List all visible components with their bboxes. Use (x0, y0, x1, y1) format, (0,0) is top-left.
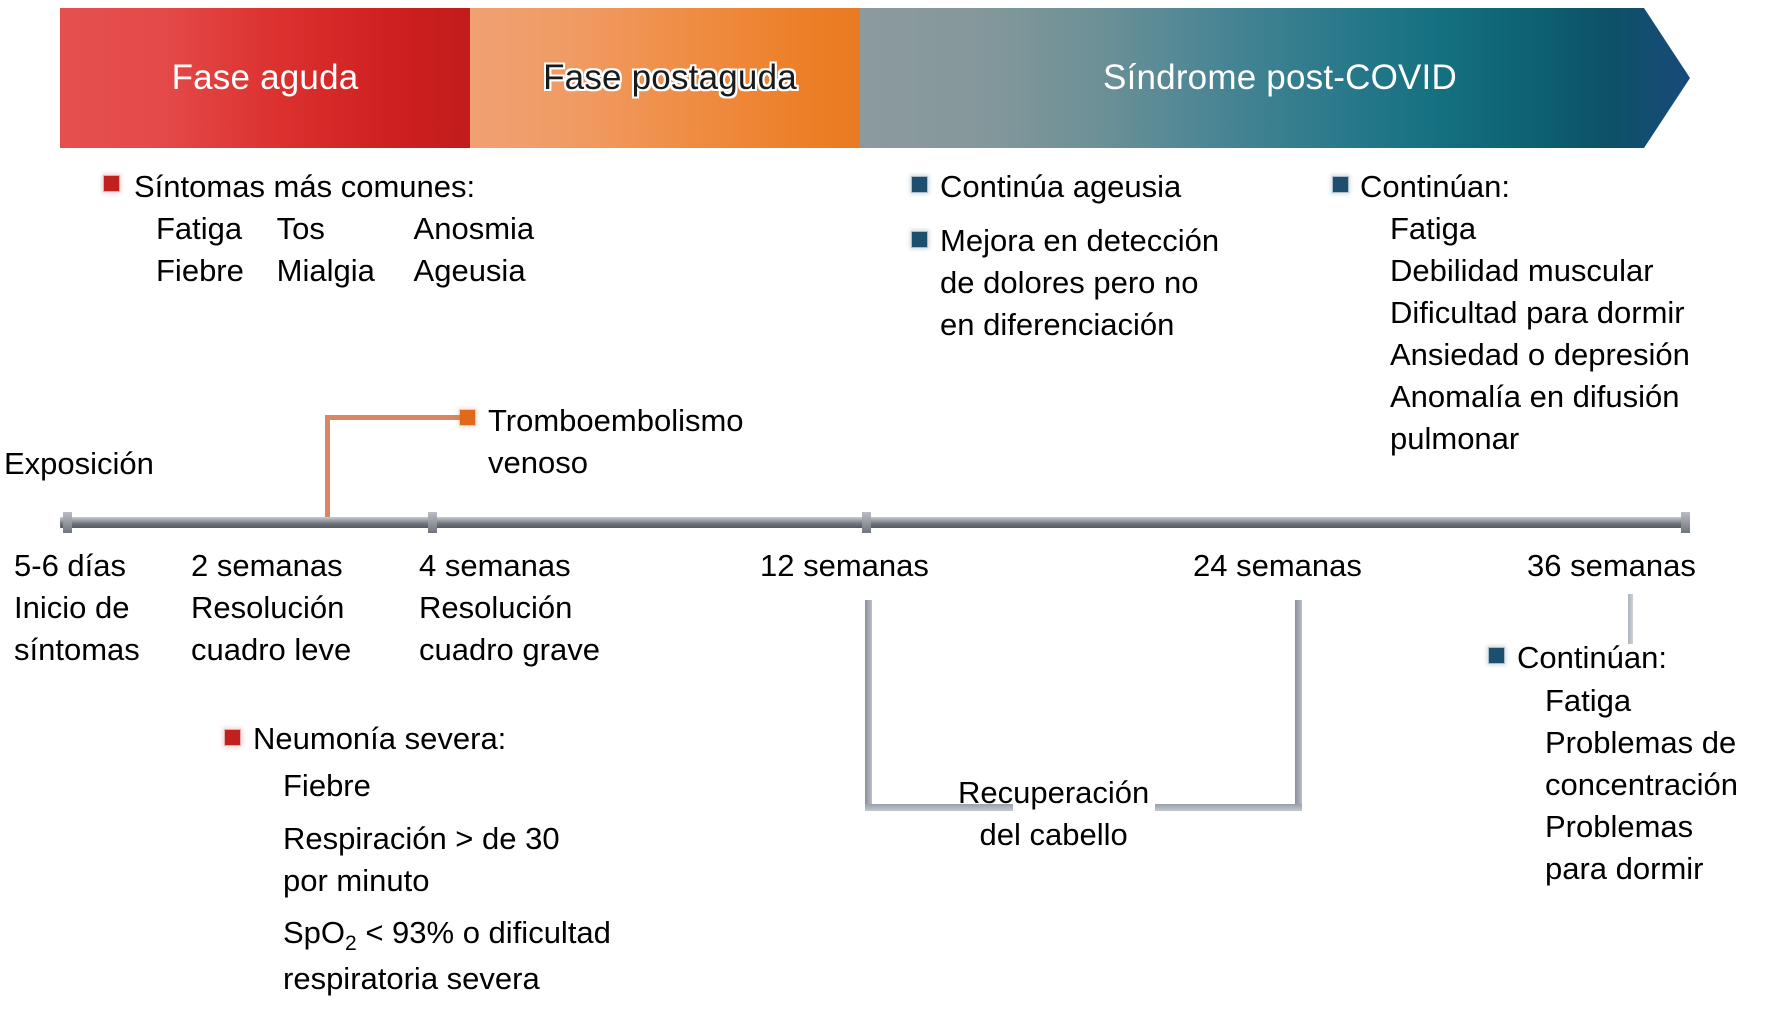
acute-symptoms-grid: Fatiga Tos Anosmia Fiebre Mialgia Ageusi… (156, 208, 534, 292)
postcovid-note-line: Ansiedad o depresión (1390, 334, 1690, 376)
timeline-tick-desc: Inicio de (14, 587, 140, 629)
phase-label-acute: Fase aguda (60, 8, 470, 148)
timeline-tick-marker (428, 512, 437, 533)
thromboembolism-bullet-icon (460, 410, 475, 425)
timeline-tick-desc: Resolución (419, 587, 600, 629)
phase-banner: Fase aguda Fase postaguda Síndrome post-… (60, 8, 1690, 148)
timeline-tick-time: 2 semanas (191, 545, 351, 587)
acute-symptom-cell: Fiebre (156, 250, 268, 292)
late-notes-bullet-icon (1489, 648, 1504, 663)
timeline-tick-time: 12 semanas (760, 545, 929, 587)
postcovid-note-list: Fatiga Debilidad muscular Dificultad par… (1390, 208, 1690, 460)
timeline-tick-desc: cuadro grave (419, 629, 600, 671)
timeline-tick-time: 5-6 días (14, 545, 140, 587)
spo2-subscript: 2 (345, 932, 357, 955)
postacute-note-line: en diferenciación (940, 304, 1219, 346)
postcovid-note-line: pulmonar (1390, 418, 1690, 460)
late-notes-line: concentración (1545, 764, 1738, 806)
phase-label-postacute: Fase postaguda (470, 8, 870, 148)
acute-symptom-cell: Mialgia (277, 250, 407, 292)
acute-symptom-cell: Ageusia (414, 253, 526, 288)
postacute-note-line: de dolores pero no (940, 262, 1219, 304)
timeline-tick-group: 4 semanas Resolución cuadro grave (419, 545, 600, 671)
postacute-note-line: Mejora en detección (940, 220, 1219, 262)
phase-label-postcovid: Síndrome post-COVID (900, 8, 1660, 148)
hair-recovery-bracket-right (1295, 600, 1302, 810)
timeline-tick-marker (63, 512, 72, 533)
severe-pneumonia-heading: Neumonía severa: (253, 718, 506, 760)
timeline-tick-desc: cuadro leve (191, 629, 351, 671)
exposure-label: Exposición (4, 443, 154, 485)
postacute-note-line: Continúa ageusia (940, 166, 1181, 208)
thromboembolism-connector-vertical (325, 415, 330, 522)
late-notes-line: Problemas (1545, 806, 1738, 848)
timeline-tick-time: 36 semanas (1527, 545, 1696, 587)
phase-label-acute-text: Fase aguda (172, 58, 359, 98)
timeline-tick-desc: Resolución (191, 587, 351, 629)
severe-pneumonia-line: Respiración > de 30 (283, 818, 560, 860)
hair-recovery-label: Recuperación del cabello (958, 772, 1149, 856)
late-notes-line: para dormir (1545, 848, 1738, 890)
thromboembolism-label: Tromboembolismo venoso (488, 400, 744, 484)
postacute-note-bullet-icon (912, 177, 927, 192)
hair-recovery-line: del cabello (958, 814, 1149, 856)
postacute-note-block: Mejora en detección de dolores pero no e… (940, 220, 1219, 346)
acute-symptoms-bullet-icon (104, 176, 119, 191)
diagram-canvas: Fase aguda Fase postaguda Síndrome post-… (0, 0, 1773, 1024)
postcovid-note-line: Dificultad para dormir (1390, 292, 1690, 334)
severe-pneumonia-line: respiratoria severa (283, 958, 540, 1000)
hair-recovery-bracket-bottom-right (1155, 804, 1302, 811)
timeline-tick-time: 4 semanas (419, 545, 600, 587)
spo2-label: SpO (283, 915, 345, 950)
late-notes-line: Fatiga (1545, 680, 1738, 722)
timeline-axis (60, 517, 1690, 528)
postcovid-note-line: Fatiga (1390, 208, 1690, 250)
timeline-tick-group: 5-6 días Inicio de síntomas (14, 545, 140, 671)
acute-symptoms-row: Fatiga Tos Anosmia (156, 208, 534, 250)
spo2-threshold: < 93% o dificultad (357, 915, 611, 950)
thromboembolism-line: venoso (488, 442, 744, 484)
severe-pneumonia-bullet-icon (225, 730, 240, 745)
acute-symptom-cell: Tos (277, 208, 407, 250)
acute-symptoms-heading: Síntomas más comunes: (134, 166, 475, 208)
late-notes-heading: Continúan: (1517, 637, 1667, 679)
postcovid-note-bullet-icon (1333, 177, 1348, 192)
severe-pneumonia-line: Fiebre (283, 765, 371, 807)
acute-symptoms-row: Fiebre Mialgia Ageusia (156, 250, 534, 292)
postcovid-note-heading: Continúan: (1360, 166, 1510, 208)
hair-recovery-bracket-left (865, 600, 872, 810)
postacute-note-bullet-icon (912, 232, 927, 247)
timeline-tick-marker (1681, 512, 1690, 533)
timeline-tick-marker (862, 512, 871, 533)
late-notes-list: Fatiga Problemas de concentración Proble… (1545, 680, 1738, 890)
acute-symptom-cell: Anosmia (414, 211, 535, 246)
severe-pneumonia-line: por minuto (283, 860, 429, 902)
acute-symptom-cell: Fatiga (156, 208, 268, 250)
hair-recovery-line: Recuperación (958, 772, 1149, 814)
timeline-tick-desc: síntomas (14, 629, 140, 671)
thromboembolism-connector-horizontal (325, 415, 460, 420)
postcovid-note-line: Debilidad muscular (1390, 250, 1690, 292)
thromboembolism-line: Tromboembolismo (488, 400, 744, 442)
late-notes-line: Problemas de (1545, 722, 1738, 764)
phase-label-postcovid-text: Síndrome post-COVID (1103, 58, 1457, 98)
timeline-tick-time: 24 semanas (1193, 545, 1362, 587)
timeline-tick-group: 2 semanas Resolución cuadro leve (191, 545, 351, 671)
postcovid-note-line: Anomalía en difusión (1390, 376, 1690, 418)
phase-label-postacute-text: Fase postaguda (543, 58, 797, 98)
